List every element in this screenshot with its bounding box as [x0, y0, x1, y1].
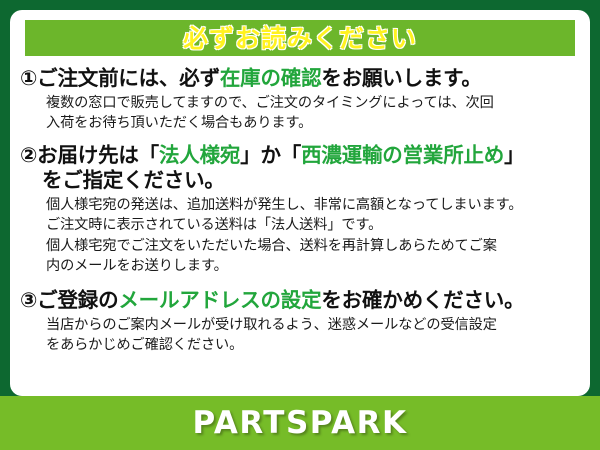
- title-banner: 必ずお読みください: [25, 20, 575, 56]
- item-2-heading-continuation: をご指定ください。: [20, 168, 582, 193]
- item-2-body-line-2: ご注文時に表示されている送料は「法人送料」です。: [46, 215, 582, 235]
- notice-card: 必ずお読みください ①ご注文前には、必ず在庫の確認をお願いします。 複数の窓口で…: [0, 0, 600, 450]
- item-1-heading-pre: ご注文前には、必ず: [37, 66, 220, 90]
- item-2-heading-mid: 」か「: [240, 143, 301, 167]
- brand-logo: PARTSPARK: [192, 408, 407, 439]
- item-3-heading: ③ご登録のメールアドレスの設定をお確かめください。: [20, 288, 582, 313]
- item-3-heading-pre: ご登録の: [37, 288, 118, 312]
- page-title: 必ずお読みください: [183, 26, 417, 51]
- notice-item-1: ①ご注文前には、必ず在庫の確認をお願いします。 複数の窓口で販売してますので、ご…: [10, 66, 590, 133]
- item-3-marker: ③: [20, 288, 37, 312]
- item-2-body-line-1: 個人様宅宛の発送は、追加送料が発生し、非常に高額となってしまいます。: [46, 195, 582, 215]
- item-1-body-line-2: 入荷をお待ち頂いただく場合もあります。: [46, 113, 582, 133]
- item-1-heading-post: をお願いします。: [321, 66, 481, 90]
- item-3-body: 当店からのご案内メールが受け取れるよう、迷惑メールなどの受信設定 をあらかじめご…: [20, 313, 582, 355]
- notice-item-3: ③ご登録のメールアドレスの設定をお確かめください。 当店からのご案内メールが受け…: [10, 288, 590, 355]
- item-1-body-line-1: 複数の窓口で販売してますので、ご注文のタイミングによっては、次回: [46, 93, 582, 113]
- item-1-marker: ①: [20, 66, 37, 90]
- item-2-heading: ②お届け先は「法人様宛」か「西濃運輸の営業所止め」をご指定ください。: [20, 143, 582, 193]
- item-2-heading-highlight: 法人様宛: [159, 143, 240, 167]
- item-3-heading-post: をお確かめください。: [321, 288, 524, 312]
- item-1-heading-highlight: 在庫の確認: [220, 66, 322, 90]
- item-2-body-line-4: 内のメールをお送りします。: [46, 256, 582, 276]
- item-1-body: 複数の窓口で販売してますので、ご注文のタイミングによっては、次回 入荷をお待ち頂…: [20, 91, 582, 133]
- footer-band: PARTSPARK: [0, 396, 600, 450]
- item-2-marker: ②: [20, 143, 37, 167]
- item-2-heading-pre: お届け先は「: [37, 143, 159, 167]
- item-3-body-line-1: 当店からのご案内メールが受け取れるよう、迷惑メールなどの受信設定: [46, 315, 582, 335]
- item-2-heading-post: 」: [504, 143, 524, 167]
- notice-panel: 必ずお読みください ①ご注文前には、必ず在庫の確認をお願いします。 複数の窓口で…: [10, 10, 590, 396]
- notice-item-2: ②お届け先は「法人様宛」か「西濃運輸の営業所止め」をご指定ください。 個人様宅宛…: [10, 143, 590, 276]
- item-2-body: 個人様宅宛の発送は、追加送料が発生し、非常に高額となってしまいます。 ご注文時に…: [20, 193, 582, 276]
- item-1-heading: ①ご注文前には、必ず在庫の確認をお願いします。: [20, 66, 582, 91]
- item-2-body-line-3: 個人様宅宛でご注文をいただいた場合、送料を再計算しあらためてご案: [46, 236, 582, 256]
- item-2-heading-highlight-2: 西濃運輸の営業所止め: [301, 143, 504, 167]
- item-3-body-line-2: をあらかじめご確認ください。: [46, 335, 582, 355]
- notice-items: ①ご注文前には、必ず在庫の確認をお願いします。 複数の窓口で販売してますので、ご…: [10, 66, 590, 355]
- item-3-heading-highlight: メールアドレスの設定: [118, 288, 321, 312]
